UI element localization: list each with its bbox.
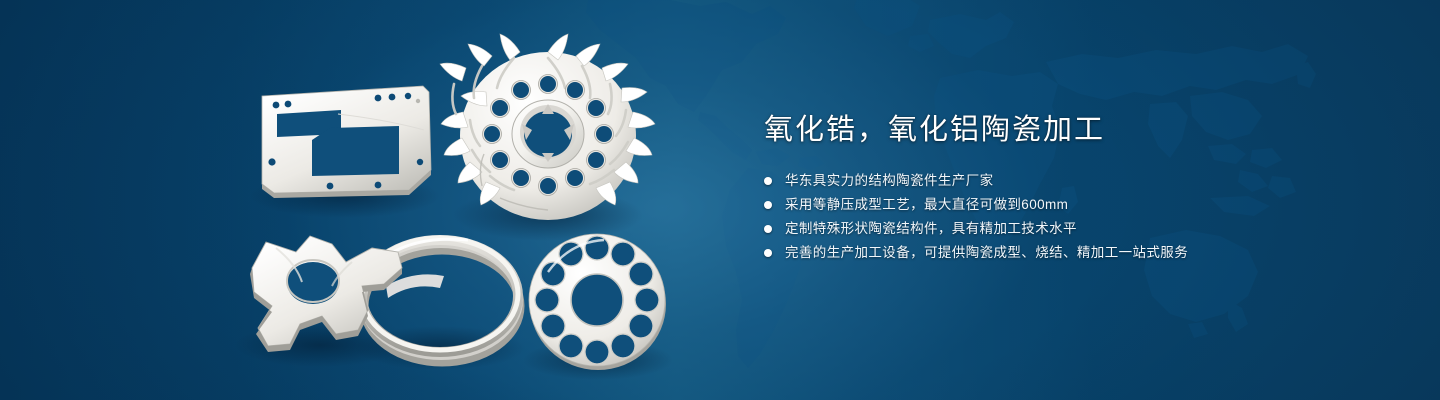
bullet-dot-icon <box>764 201 772 209</box>
ceramic-products-image <box>0 0 720 400</box>
bullet-dot-icon <box>764 249 772 257</box>
list-item: 华东具实力的结构陶瓷件生产厂家 <box>764 174 1384 188</box>
list-item: 定制特殊形状陶瓷结构件，具有精加工技术水平 <box>764 222 1384 236</box>
list-item-label: 采用等静压成型工艺，最大直径可做到600mm <box>785 198 1068 212</box>
banner-copy: 氧化锆，氧化铝陶瓷加工 华东具实力的结构陶瓷件生产厂家 采用等静压成型工艺，最大… <box>764 110 1384 270</box>
list-item: 采用等静压成型工艺，最大直径可做到600mm <box>764 198 1384 212</box>
ceramic-impeller <box>440 34 655 220</box>
list-item: 完善的生产加工设备，可提供陶瓷成型、烧结、精加工一站式服务 <box>764 246 1384 260</box>
page-title: 氧化锆，氧化铝陶瓷加工 <box>764 110 1384 150</box>
list-item-label: 定制特殊形状陶瓷结构件，具有精加工技术水平 <box>785 222 1077 236</box>
bullet-dot-icon <box>764 177 772 185</box>
ceramic-base-plate <box>262 86 431 198</box>
hero-banner: 氧化锆，氧化铝陶瓷加工 华东具实力的结构陶瓷件生产厂家 采用等静压成型工艺，最大… <box>0 0 1440 400</box>
feature-list: 华东具实力的结构陶瓷件生产厂家 采用等静压成型工艺，最大直径可做到600mm 定… <box>764 174 1384 260</box>
ceramic-holed-disc <box>529 234 666 370</box>
list-item-label: 华东具实力的结构陶瓷件生产厂家 <box>785 174 994 188</box>
list-item-label: 完善的生产加工设备，可提供陶瓷成型、烧结、精加工一站式服务 <box>785 246 1188 260</box>
bullet-dot-icon <box>764 225 772 233</box>
